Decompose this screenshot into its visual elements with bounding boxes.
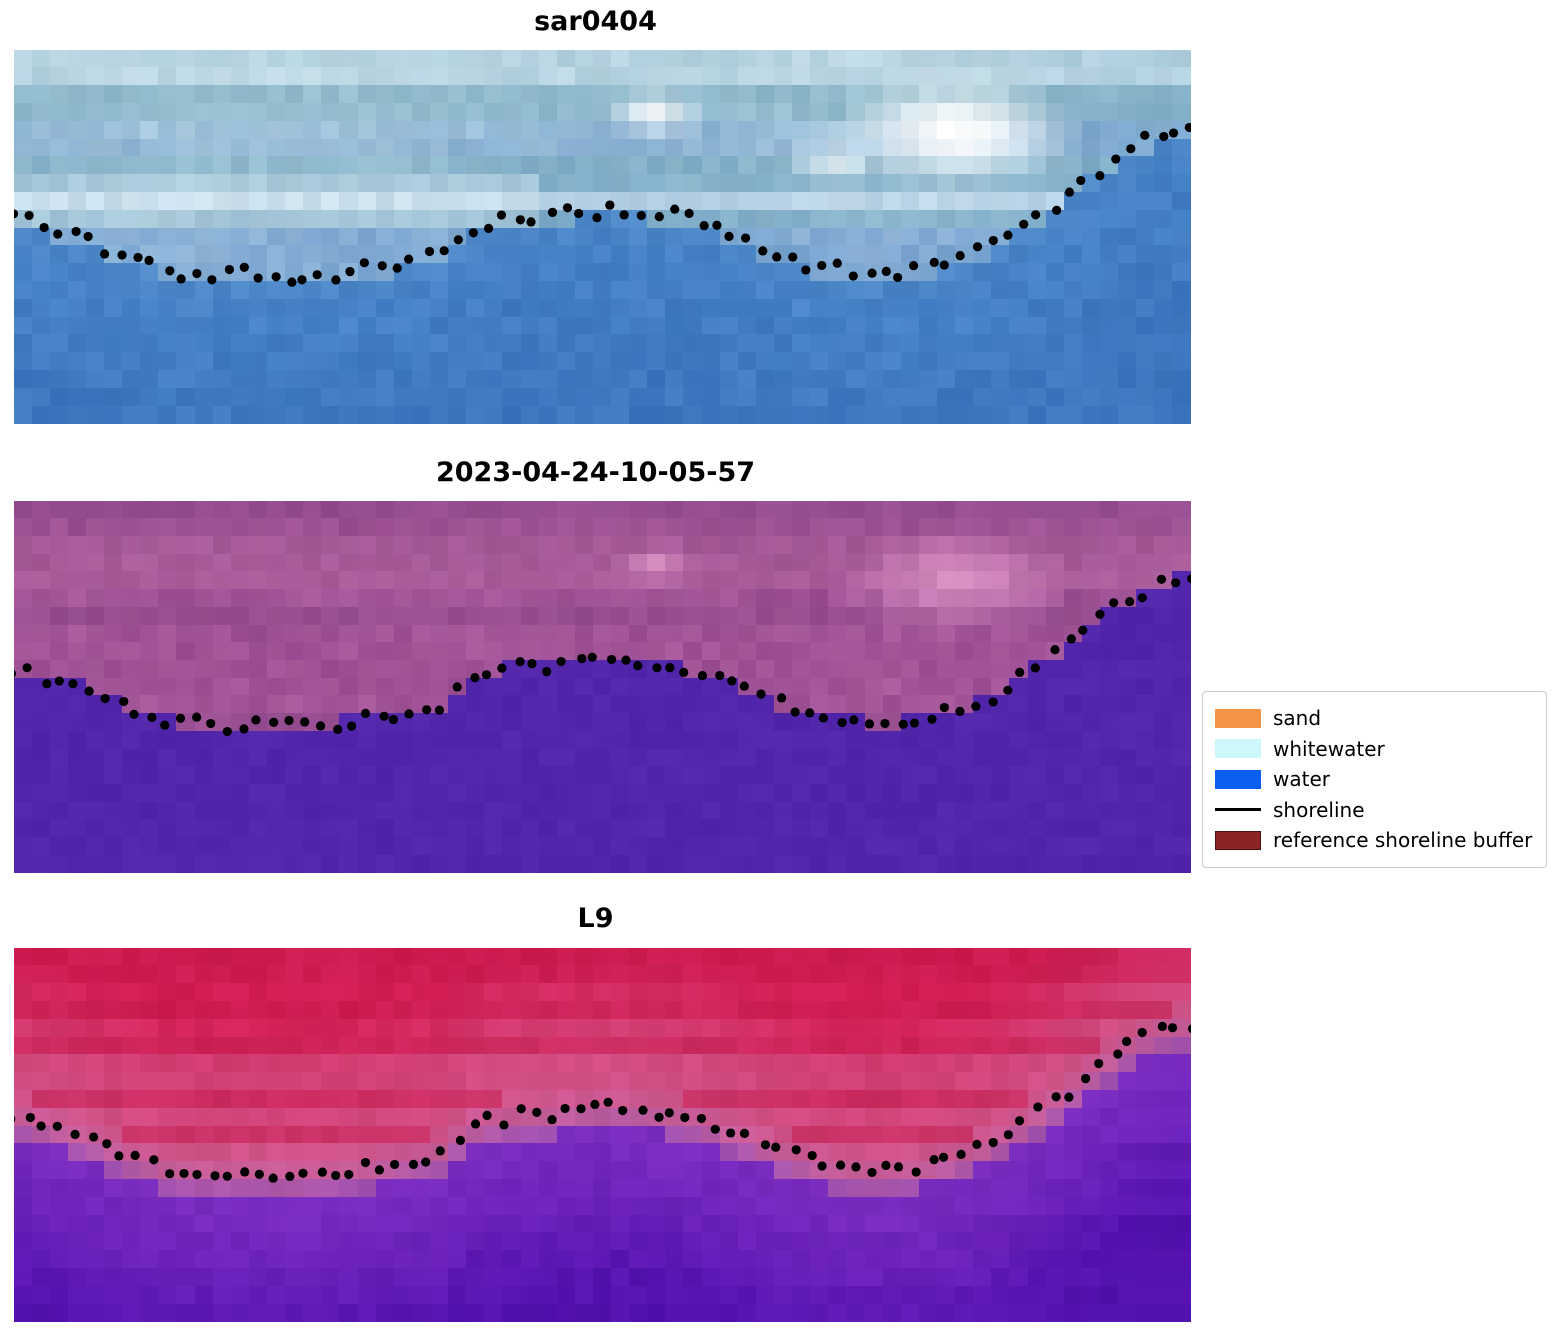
legend-item-sand: sand	[1215, 703, 1536, 734]
reference-buffer-color-swatch	[1215, 831, 1261, 850]
panel-title-classified: 2023-04-24-10-05-57	[0, 457, 1191, 488]
panel-index[interactable]	[14, 948, 1191, 1322]
legend-label-whitewater: whitewater	[1273, 739, 1385, 759]
legend-item-water: water	[1215, 764, 1536, 795]
classified-raster-canvas[interactable]	[14, 501, 1191, 873]
reference-buffer-swatch-wrap	[1215, 831, 1273, 850]
legend-label-sand: sand	[1273, 708, 1321, 728]
sand-swatch-wrap	[1215, 709, 1273, 728]
sand-color-swatch	[1215, 709, 1261, 728]
rgb-raster-canvas[interactable]	[14, 50, 1191, 424]
water-color-swatch	[1215, 770, 1261, 789]
legend-label-reference-buffer: reference shoreline buffer	[1273, 830, 1532, 850]
legend: sand whitewater water shoreline referenc…	[1202, 691, 1547, 868]
water-swatch-wrap	[1215, 770, 1273, 789]
whitewater-color-swatch	[1215, 739, 1261, 758]
legend-label-shoreline: shoreline	[1273, 800, 1365, 820]
index-raster-canvas[interactable]	[14, 948, 1191, 1322]
panel-title-index: L9	[0, 903, 1191, 934]
shoreline-line-sample	[1215, 808, 1261, 811]
shoreline-detection-figure: sar0404 2023-04-24-10-05-57 L9 sand whit…	[0, 0, 1562, 1337]
legend-label-water: water	[1273, 769, 1330, 789]
legend-item-reference-buffer: reference shoreline buffer	[1215, 825, 1536, 856]
legend-item-shoreline: shoreline	[1215, 795, 1536, 826]
shoreline-swatch-wrap	[1215, 808, 1273, 811]
panel-classified[interactable]	[14, 501, 1191, 873]
panel-title-rgb: sar0404	[0, 6, 1191, 37]
panel-rgb[interactable]	[14, 50, 1191, 424]
legend-item-whitewater: whitewater	[1215, 734, 1536, 765]
whitewater-swatch-wrap	[1215, 739, 1273, 758]
